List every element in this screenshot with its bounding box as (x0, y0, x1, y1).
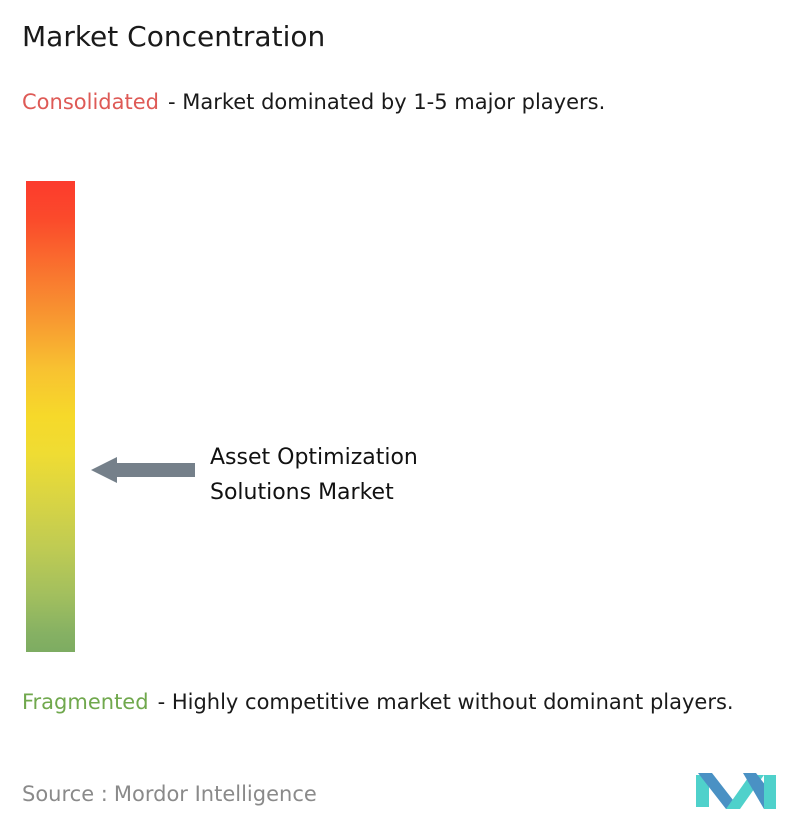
page-title: Market Concentration (22, 20, 325, 54)
legend-consolidated: Consolidated- Market dominated by 1-5 ma… (22, 87, 778, 118)
left-arrow-icon (91, 456, 195, 484)
legend-fragmented-description: - Highly competitive market without domi… (158, 690, 734, 714)
legend-fragmented-keyword: Fragmented (22, 690, 149, 714)
legend-fragmented: Fragmented- Highly competitive market wi… (22, 687, 792, 718)
concentration-gradient-bar (26, 181, 75, 652)
market-callout-line2: Solutions Market (210, 475, 418, 510)
legend-consolidated-keyword: Consolidated (22, 90, 159, 114)
market-callout-label: Asset Optimization Solutions Market (210, 440, 418, 510)
legend-consolidated-description: - Market dominated by 1-5 major players. (168, 90, 605, 114)
market-callout-line1: Asset Optimization (210, 440, 418, 475)
market-concentration-infographic: Market Concentration Consolidated- Marke… (0, 0, 796, 834)
source-label: Source : (22, 782, 108, 806)
source-line: Source :Mordor Intelligence (22, 780, 317, 808)
mordor-intelligence-logo-icon (696, 769, 776, 813)
source-value: Mordor Intelligence (114, 782, 317, 806)
